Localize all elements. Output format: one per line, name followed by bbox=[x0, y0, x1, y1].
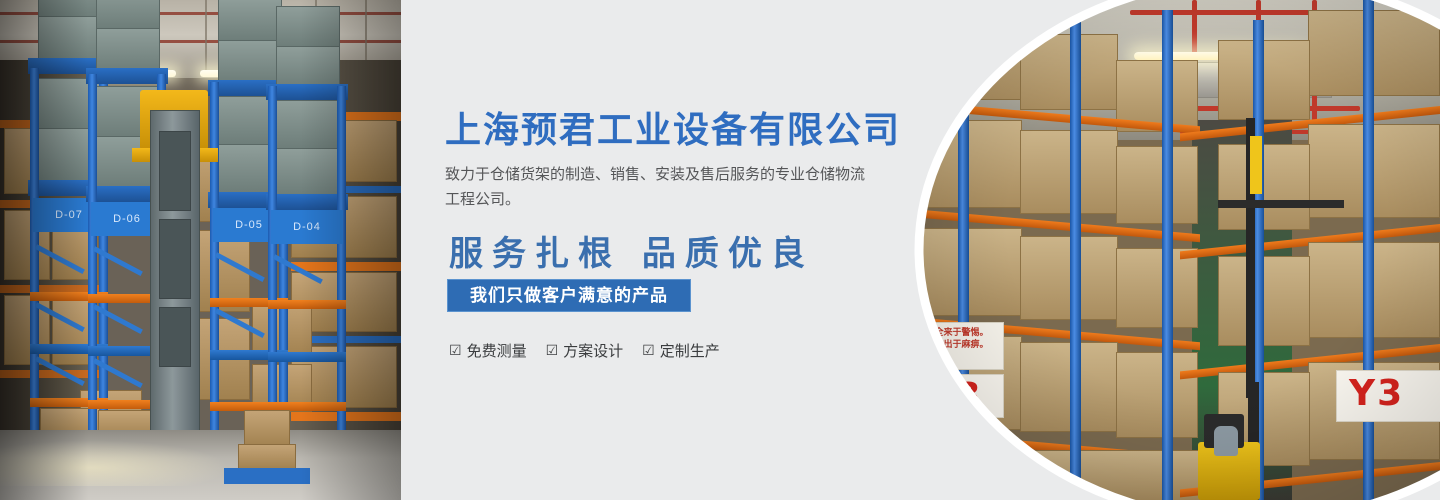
company-title: 上海预君工业设备有限公司 bbox=[445, 101, 901, 153]
feature-label: 免费测量 bbox=[467, 340, 527, 361]
feature-label: 方案设计 bbox=[563, 340, 623, 361]
feature-item-free-measure: ☑ 免费测量 bbox=[449, 340, 527, 361]
photo-vignette bbox=[0, 0, 401, 500]
checkbox-checked-icon: ☑ bbox=[546, 344, 559, 358]
checkbox-checked-icon: ☑ bbox=[449, 344, 462, 358]
right-warehouse-photo: 安全来于警惕。 事故出于麻痹。 Y3 bbox=[900, 0, 1440, 500]
feature-item-plan-design: ☑ 方案设计 bbox=[546, 340, 624, 361]
right-warehouse-photo-wrap: 安全来于警惕。 事故出于麻痹。 Y3 bbox=[900, 0, 1440, 500]
cta-button[interactable]: 我们只做客户满意的产品 bbox=[447, 279, 691, 312]
feature-item-custom-production: ☑ 定制生产 bbox=[642, 340, 720, 361]
hero-slogan: 服务扎根 品质优良 bbox=[449, 226, 814, 275]
feature-label: 定制生产 bbox=[660, 340, 720, 361]
feature-list: ☑ 免费测量 ☑ 方案设计 ☑ 定制生产 bbox=[449, 340, 720, 361]
company-subtitle: 致力于仓储货架的制造、销售、安装及售后服务的专业仓储物流工程公司。 bbox=[445, 162, 865, 212]
photo-vignette bbox=[900, 0, 1440, 500]
checkbox-checked-icon: ☑ bbox=[642, 344, 655, 358]
left-warehouse-photo: D-07 D-06 bbox=[0, 0, 401, 500]
ellipse-clip: 安全来于警惕。 事故出于麻痹。 Y3 bbox=[900, 0, 1440, 500]
hero-banner: D-07 D-06 bbox=[0, 0, 1440, 500]
